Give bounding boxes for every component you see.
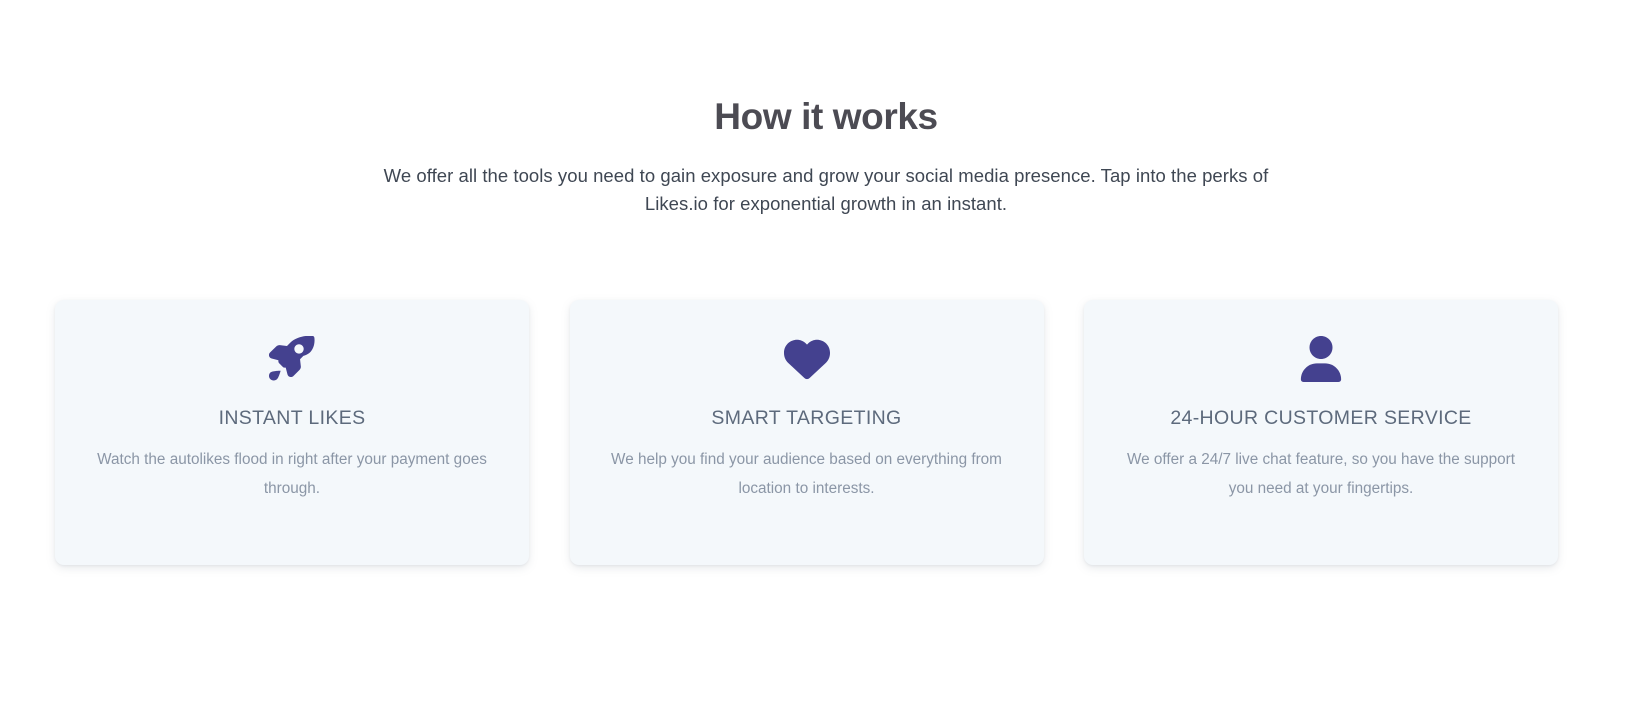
card-title: SMART TARGETING	[711, 406, 901, 431]
feature-card[interactable]: INSTANT LIKES Watch the autolikes flood …	[55, 300, 529, 565]
feature-card[interactable]: SMART TARGETING We help you find your au…	[570, 300, 1044, 565]
feature-card[interactable]: 24-HOUR CUSTOMER SERVICE We offer a 24/7…	[1084, 300, 1558, 565]
card-title: 24-HOUR CUSTOMER SERVICE	[1170, 406, 1471, 431]
feature-cards-row: INSTANT LIKES Watch the autolikes flood …	[55, 300, 1558, 565]
heart-icon	[784, 336, 830, 382]
card-body: Watch the autolikes flood in right after…	[92, 446, 492, 504]
user-icon	[1300, 336, 1342, 382]
section-subtitle: We offer all the tools you need to gain …	[376, 162, 1276, 219]
card-title: INSTANT LIKES	[219, 406, 366, 431]
how-it-works-section: How it works We offer all the tools you …	[0, 0, 1652, 705]
rocket-icon	[269, 336, 315, 382]
page-title: How it works	[0, 96, 1652, 139]
section-header: How it works We offer all the tools you …	[0, 0, 1652, 219]
card-body: We offer a 24/7 live chat feature, so yo…	[1121, 446, 1521, 504]
card-body: We help you find your audience based on …	[607, 446, 1007, 504]
